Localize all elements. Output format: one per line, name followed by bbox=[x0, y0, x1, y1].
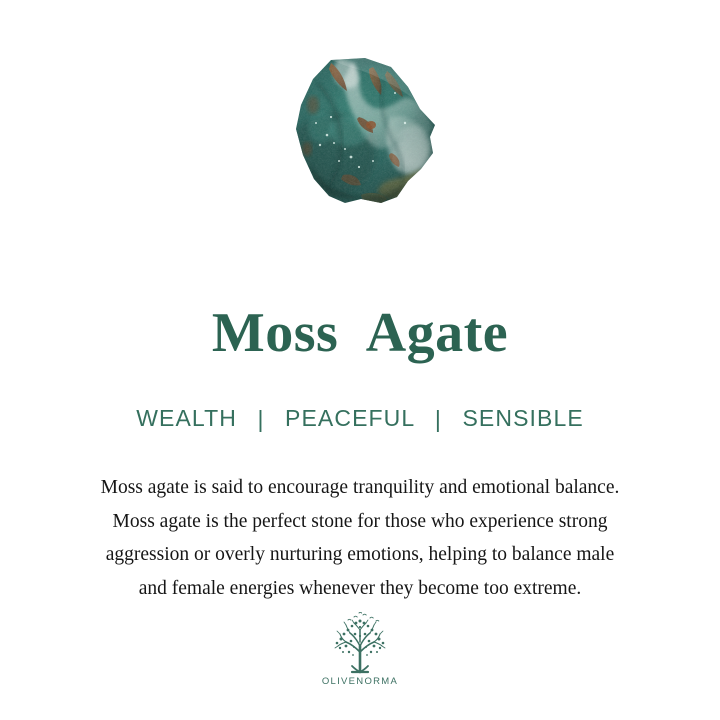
description-text: Moss agate is said to encourage tranquil… bbox=[0, 471, 720, 605]
keyword-separator: | bbox=[435, 404, 442, 434]
description-line: and female energies whenever they become… bbox=[0, 572, 720, 606]
keyword-wealth: WEALTH bbox=[136, 405, 237, 431]
moss-agate-stone-icon bbox=[287, 57, 439, 207]
description-line: Moss agate is the perfect stone for thos… bbox=[0, 505, 720, 539]
moss-agate-stone-image bbox=[287, 57, 439, 207]
description-line: Moss agate is said to encourage tranquil… bbox=[0, 471, 720, 505]
keyword-sensible: SENSIBLE bbox=[462, 405, 583, 431]
keyword-separator: | bbox=[257, 404, 264, 434]
keyword-peaceful: PEACEFUL bbox=[285, 405, 414, 431]
product-info-card: Moss Agate WEALTH | PEACEFUL | SENSIBLE … bbox=[0, 0, 720, 720]
hero-image-area bbox=[0, 0, 720, 260]
brand-name: OLIVENORMA bbox=[322, 676, 398, 687]
description-line: aggression or overly nurturing emotions,… bbox=[0, 538, 720, 572]
brand-footer: OLIVENORMA bbox=[0, 612, 720, 687]
tree-of-life-icon bbox=[324, 612, 396, 674]
page-title: Moss Agate bbox=[0, 302, 720, 364]
keyword-list: WEALTH | PEACEFUL | SENSIBLE bbox=[0, 403, 720, 433]
